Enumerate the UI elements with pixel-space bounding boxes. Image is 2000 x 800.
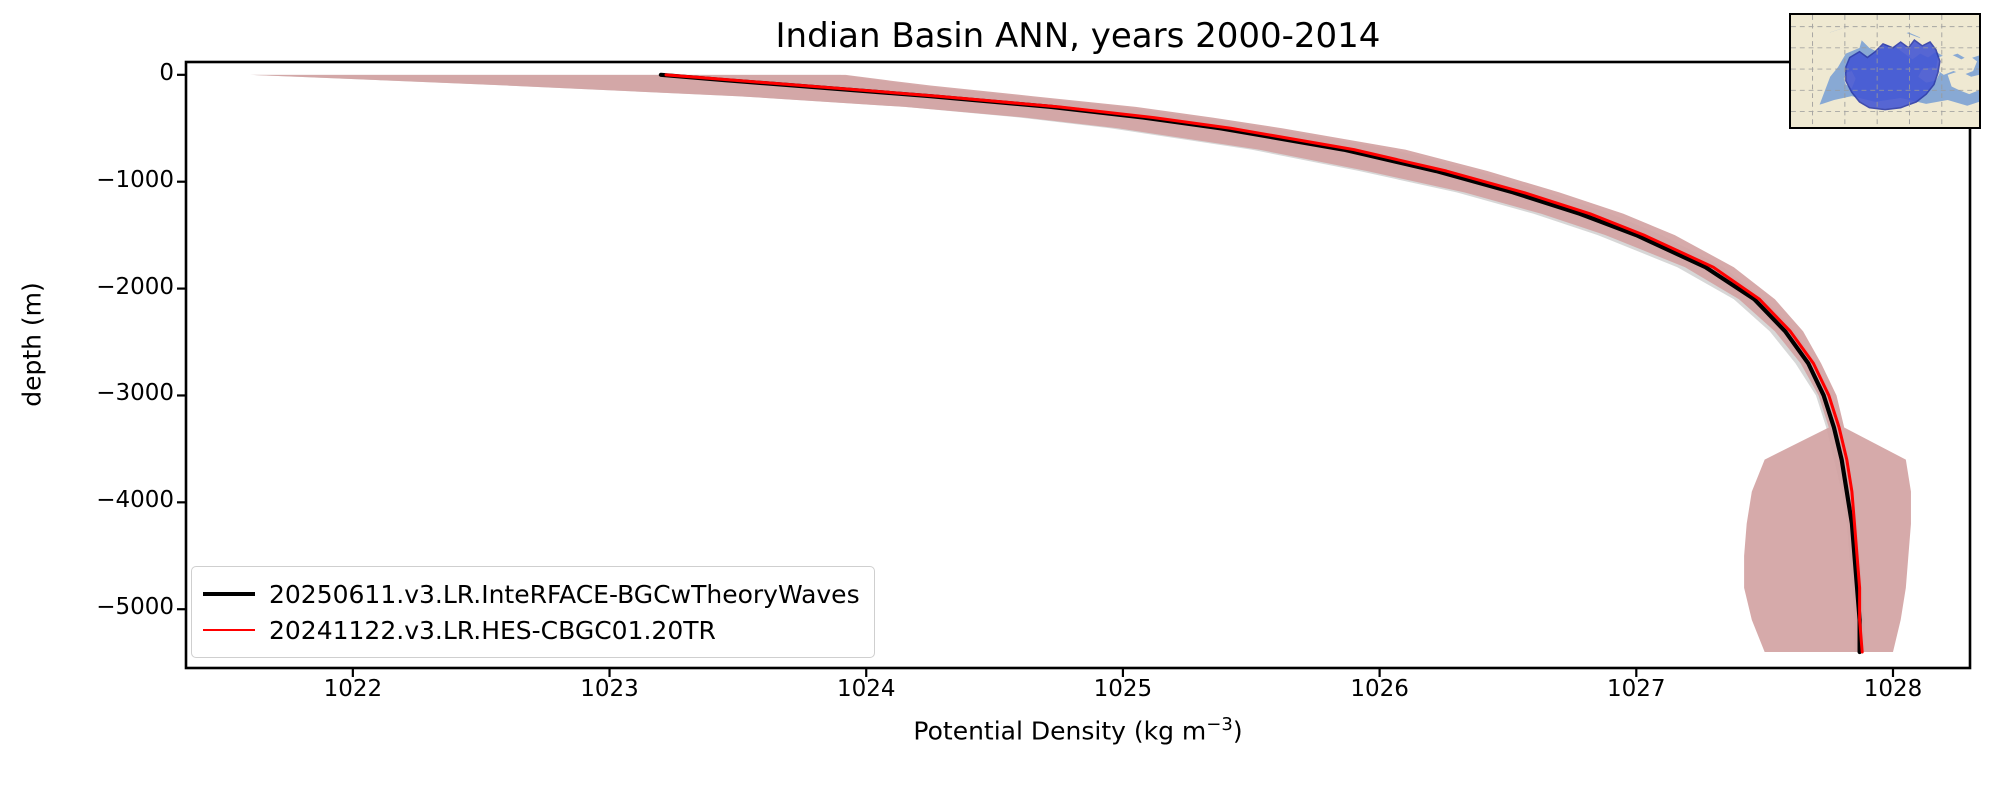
x-tick-label: 1022 [273,676,433,702]
legend-item[interactable]: 20241122.v3.LR.HES-CBGC01.20TR [203,612,860,648]
legend-item-label: 20241122.v3.LR.HES-CBGC01.20TR [269,616,716,645]
x-axis-label-prefix: Potential Density (kg m [913,716,1206,745]
y-tick-label: −4000 [64,487,174,513]
indian-basin-locator-map [1789,13,1981,129]
x-tick-label: 1026 [1300,676,1460,702]
x-axis-label: Potential Density (kg m−3) [186,714,1970,745]
y-tick-label: −3000 [64,380,174,406]
y-tick-label: −2000 [64,274,174,300]
x-tick-label: 1028 [1813,676,1973,702]
legend-item[interactable]: 20250611.v3.LR.InteRFACE-BGCwTheoryWaves [203,576,860,612]
x-tick-label: 1024 [786,676,946,702]
figure-root: Indian Basin ANN, years 2000-2014 0−1000… [0,0,2000,800]
x-axis-label-exponent: −3 [1206,714,1233,735]
x-tick-label: 1025 [1043,676,1203,702]
legend-swatch-line-icon [203,592,255,596]
x-tick-label: 1023 [530,676,690,702]
x-tick-label: 1027 [1556,676,1716,702]
x-axis-label-suffix: ) [1233,716,1243,745]
locator-map-graphic [1791,15,1979,127]
legend-item-label: 20250611.v3.LR.InteRFACE-BGCwTheoryWaves [269,580,860,609]
y-tick-label: −1000 [64,167,174,193]
legend-swatch-line-icon [203,629,255,631]
y-tick-label: 0 [64,60,174,86]
y-tick-label: −5000 [64,594,174,620]
legend[interactable]: 20250611.v3.LR.InteRFACE-BGCwTheoryWaves… [191,566,875,658]
y-tick-labels: 0−1000−2000−3000−4000−5000 [62,0,174,800]
y-axis-label: depth (m) [18,235,47,455]
